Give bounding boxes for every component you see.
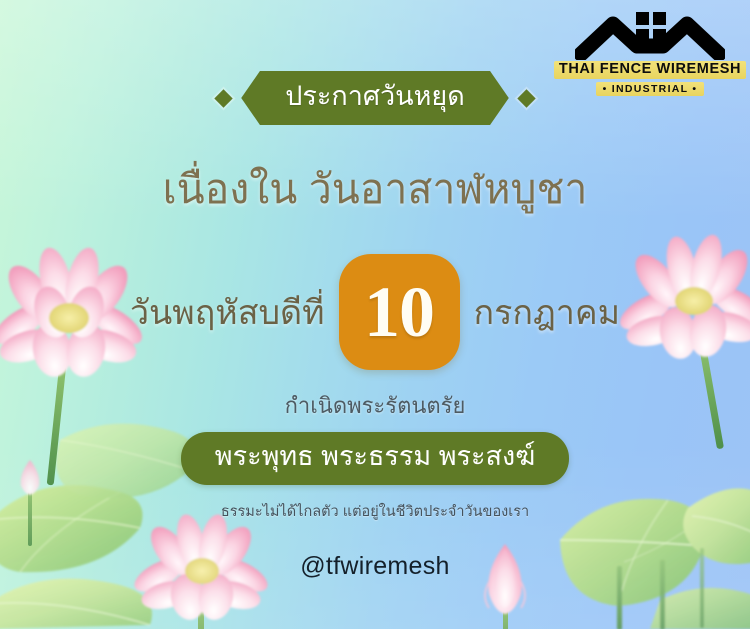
triple-gem-pill: พระพุทธ พระธรรม พระสงฆ์ — [181, 432, 569, 485]
day-badge: 10 — [339, 254, 460, 370]
announcement-ribbon-row: ประกาศวันหยุด — [0, 70, 750, 126]
page-title: เนื่องใน วันอาสาฬหบูชา — [0, 165, 750, 214]
diamond-icon-left — [215, 89, 233, 107]
date-month: กรกฎาคม — [474, 285, 621, 339]
date-prefix: วันพฤหัสบดีที่ — [130, 285, 325, 339]
house-fence-icon — [575, 8, 725, 60]
triple-gem-pill-wrap: พระพุทธ พระธรรม พระสงฆ์ — [0, 432, 750, 485]
tagline: ธรรมะไม่ได้ไกลตัว แต่อยู่ในชีวิตประจำวัน… — [0, 500, 750, 523]
holiday-announcement-poster: THAI FENCE WIREMESH • INDUSTRIAL • ประกา… — [0, 0, 750, 629]
date-row: วันพฤหัสบดีที่ 10 กรกฎาคม — [0, 268, 750, 356]
day-number: 10 — [364, 276, 434, 348]
social-handle: @tfwiremesh — [0, 552, 750, 581]
announcement-ribbon-label: ประกาศวันหยุด — [241, 71, 509, 125]
diamond-icon-right — [517, 89, 535, 107]
sub-caption: กำเนิดพระรัตนตรัย — [0, 388, 750, 423]
